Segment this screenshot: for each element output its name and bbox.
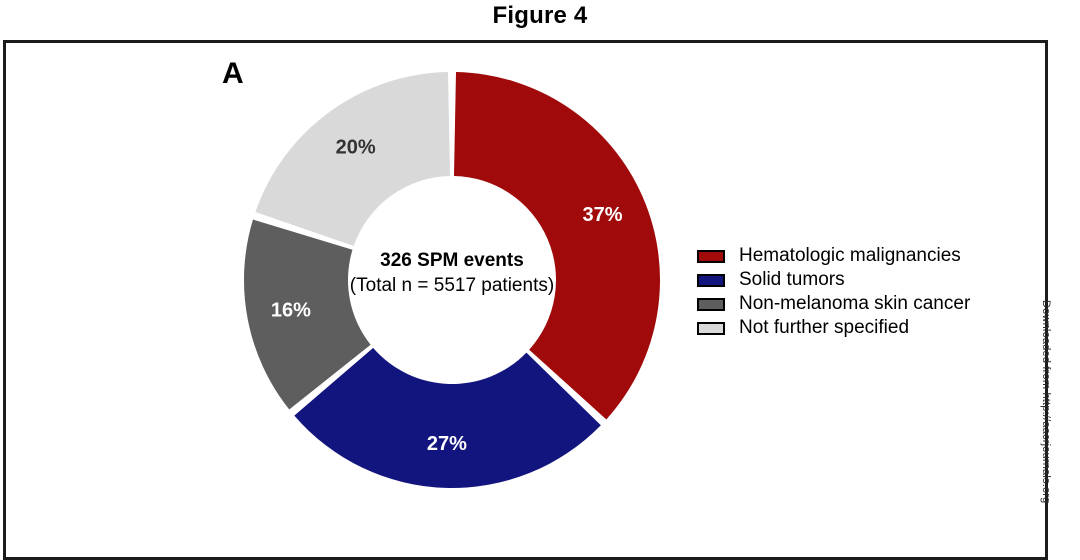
legend-item[interactable]: Not further specified (697, 316, 970, 340)
donut-slice-label: 37% (582, 204, 622, 226)
donut-center-caption: 326 SPM events (Total n = 5517 patients) (240, 248, 664, 298)
donut-slice-label: 27% (427, 433, 467, 455)
donut-slice[interactable] (255, 72, 450, 246)
legend-color-swatch (697, 274, 725, 287)
legend-color-swatch (697, 250, 725, 263)
legend-item[interactable]: Solid tumors (697, 268, 970, 292)
donut-slice[interactable] (454, 72, 660, 419)
donut-slice-label: 20% (336, 136, 376, 158)
legend-item-label: Not further specified (739, 317, 909, 339)
center-events-count: 326 SPM events (240, 248, 664, 273)
legend-color-swatch (697, 322, 725, 335)
chart-legend: Hematologic malignanciesSolid tumorsNon-… (697, 244, 970, 340)
legend-item[interactable]: Non-melanoma skin cancer (697, 292, 970, 316)
center-total-patients: (Total n = 5517 patients) (240, 273, 664, 298)
page-watermark: Downloaded from http://aacrjournals.org (1040, 300, 1052, 530)
legend-item[interactable]: Hematologic malignancies (697, 244, 970, 268)
legend-color-swatch (697, 298, 725, 311)
legend-item-label: Non-melanoma skin cancer (739, 293, 970, 315)
legend-item-label: Solid tumors (739, 269, 845, 291)
figure-title: Figure 4 (0, 2, 1080, 30)
donut-slice-label: 16% (271, 300, 311, 322)
legend-item-label: Hematologic malignancies (739, 245, 961, 267)
